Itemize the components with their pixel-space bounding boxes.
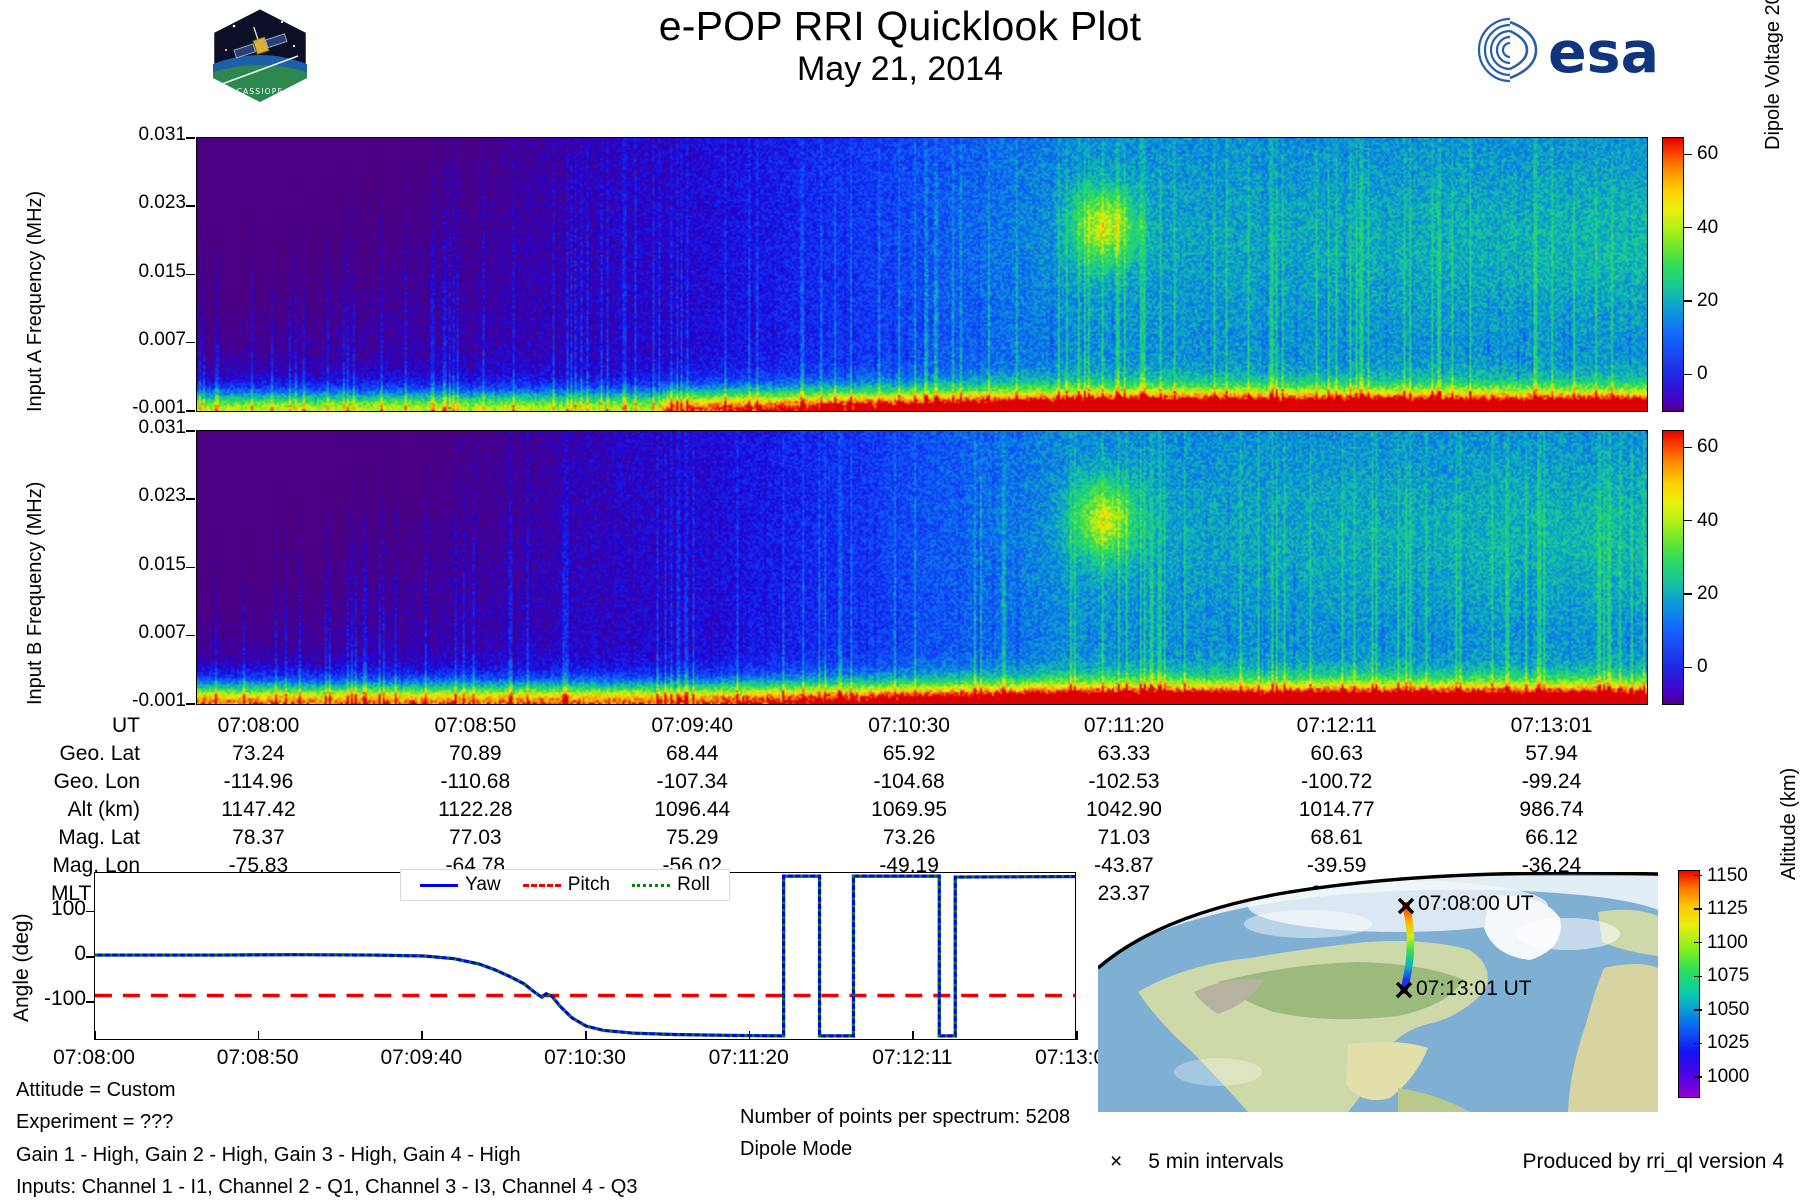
ephemeris-cell: 68.61: [1230, 824, 1443, 852]
y-tick-label: 0.015: [114, 261, 186, 283]
info-block-mid: Number of points per spectrum: 5208 Dipo…: [740, 1101, 1070, 1166]
colorbar-tick-label: 0: [1692, 656, 1708, 678]
ephemeris-cell: 1147.42: [150, 796, 367, 824]
attitude-x-tick-mark: [421, 1031, 423, 1040]
gain-info: Gain 1 - High, Gain 2 - High, Gain 3 - H…: [16, 1139, 637, 1171]
altitude-tick-label: 1150: [1702, 865, 1748, 887]
y-tick-mark: [186, 498, 195, 500]
ephemeris-cell: 1069.95: [801, 796, 1018, 824]
colorbar-tick-label: 60: [1692, 436, 1718, 458]
y-tick-mark: [186, 430, 195, 432]
ephemeris-cell: 07:11:20: [1018, 712, 1231, 740]
ephemeris-row: Geo. Lat73.2470.8968.4465.9263.3360.6357…: [0, 740, 1660, 768]
attitude-y-tick-label: -100: [20, 987, 86, 1011]
y-tick-mark: [186, 410, 195, 412]
interval-legend-label: 5 min intervals: [1148, 1150, 1283, 1174]
ephemeris-cell: 07:13:01: [1443, 712, 1660, 740]
y-tick-mark: [186, 342, 195, 344]
y-tick-label: 0.023: [114, 192, 186, 214]
attitude-y-tick-mark: [86, 911, 95, 913]
ephemeris-cell: -99.24: [1443, 768, 1660, 796]
input-a-spectrogram-image: [197, 138, 1647, 411]
altitude-colorbar: [1678, 870, 1700, 1098]
colorbar-tick-label: 20: [1692, 583, 1718, 605]
colorbar-tick-label: 60: [1692, 143, 1718, 165]
yaw-line-icon: [420, 884, 458, 887]
ephemeris-row-label: Geo. Lat: [0, 740, 150, 768]
panel-a-ylabel: Input A Frequency (MHz): [24, 191, 47, 412]
y-tick-label: 0.031: [114, 124, 186, 146]
ephemeris-cell: 66.12: [1443, 824, 1660, 852]
legend-item-roll: Roll: [632, 874, 710, 896]
altitude-tick-label: 1100: [1702, 932, 1748, 954]
altitude-tick-label: 1000: [1702, 1066, 1749, 1088]
ephemeris-cell: -102.53: [1018, 768, 1231, 796]
colorbar-title-plain: Dipole Voltage 20: [1762, 0, 1784, 150]
y-tick-mark: [186, 703, 195, 705]
y-tick-mark: [186, 274, 195, 276]
ephemeris-cell: 60.63: [1230, 740, 1443, 768]
y-tick-label: 0.007: [114, 622, 186, 644]
attitude-x-tick-mark: [912, 1031, 914, 1040]
ephemeris-cell: 68.44: [584, 740, 801, 768]
attitude-x-tick-label: 07:12:11: [842, 1046, 982, 1070]
map-globe: [1098, 872, 1658, 1112]
map-end-time-label: 07:13:01 UT: [1416, 977, 1532, 1001]
interval-marker-icon: ×: [1110, 1150, 1122, 1174]
roll-line-icon: [632, 884, 670, 887]
attitude-x-tick-mark: [258, 1031, 260, 1040]
panel-b-ylabel: Input B Frequency (MHz): [24, 482, 47, 705]
y-tick-label: -0.001: [114, 397, 186, 419]
attitude-x-tick-mark: [749, 1031, 751, 1040]
colorbar-tick-label: 40: [1692, 510, 1718, 532]
attitude-x-tick-label: 07:10:30: [515, 1046, 655, 1070]
y-tick-mark: [186, 635, 195, 637]
panel-b-yaxis: 0.0310.0230.0150.007-0.001: [68, 430, 186, 705]
ephemeris-cell: 07:08:50: [367, 712, 584, 740]
ephemeris-cell: 57.94: [1443, 740, 1660, 768]
colorbar-tick-label: 40: [1692, 217, 1718, 239]
input-a-spectrogram: [196, 137, 1648, 412]
inputs-info: Inputs: Channel 1 - I1, Channel 2 - Q1, …: [16, 1171, 637, 1203]
legend-label-yaw: Yaw: [465, 874, 501, 896]
ephemeris-row: Geo. Lon-114.96-110.68-107.34-104.68-102…: [0, 768, 1660, 796]
ephemeris-cell: -104.68: [801, 768, 1018, 796]
map-surface: [1098, 872, 1658, 1112]
attitude-y-tick-label: 0: [20, 942, 86, 966]
attitude-x-tick-label: 07:08:00: [24, 1046, 164, 1070]
ground-track-map: 07:08:00 UT 07:13:01 UT: [1098, 872, 1658, 1112]
ephemeris-cell: -107.34: [584, 768, 801, 796]
ephemeris-cell: 07:12:11: [1230, 712, 1443, 740]
colorbar-tick-label: 20: [1692, 290, 1718, 312]
y-tick-label: 0.007: [114, 329, 186, 351]
ephemeris-row: Alt (km)1147.421122.281096.441069.951042…: [0, 796, 1660, 824]
ephemeris-cell: 70.89: [367, 740, 584, 768]
ephemeris-cell: 986.74: [1443, 796, 1660, 824]
ephemeris-row: Mag. Lat78.3777.0375.2973.2671.0368.6166…: [0, 824, 1660, 852]
map-legend: × 5 min intervals: [1110, 1150, 1284, 1174]
produced-by: Produced by rri_ql version 4: [1523, 1150, 1784, 1174]
panel-a-yaxis: 0.0310.0230.0150.007-0.001: [68, 137, 186, 412]
attitude-x-tick-label: 07:08:50: [188, 1046, 328, 1070]
info-block-left: Attitude = Custom Experiment = ??? Gain …: [16, 1074, 637, 1204]
ephemeris-cell: 1096.44: [584, 796, 801, 824]
title-block: e-POP RRI Quicklook Plot May 21, 2014: [0, 4, 1800, 91]
input-b-spectrogram-image: [197, 431, 1647, 704]
ephemeris-row-label: Mag. Lat: [0, 824, 150, 852]
page-subtitle-date: May 21, 2014: [0, 48, 1800, 91]
ephemeris-cell: 1122.28: [367, 796, 584, 824]
y-tick-label: 0.015: [114, 554, 186, 576]
altitude-tick-label: 1050: [1702, 999, 1749, 1021]
attitude-x-tick-mark: [585, 1031, 587, 1040]
ephemeris-cell: 07:09:40: [584, 712, 801, 740]
ephemeris-cell: -100.72: [1230, 768, 1443, 796]
ephemeris-cell: 71.03: [1018, 824, 1231, 852]
y-tick-mark: [186, 205, 195, 207]
ephemeris-cell: 1014.77: [1230, 796, 1443, 824]
ephemeris-row-label: Geo. Lon: [0, 768, 150, 796]
attitude-legend: Yaw Pitch Roll: [400, 869, 730, 901]
legend-item-yaw: Yaw: [420, 874, 501, 896]
spectrogram-a-colorbar: [1662, 137, 1684, 412]
attitude-x-tick-label: 07:11:20: [679, 1046, 819, 1070]
ephemeris-cell: 65.92: [801, 740, 1018, 768]
ephemeris-cell: -110.68: [367, 768, 584, 796]
attitude-x-tick-mark: [1076, 1031, 1078, 1040]
ephemeris-cell: 77.03: [367, 824, 584, 852]
colorbar-tick-label: 0: [1692, 363, 1708, 385]
y-tick-mark: [186, 567, 195, 569]
attitude-info: Attitude = Custom: [16, 1074, 637, 1106]
altitude-tick-label: 1075: [1702, 965, 1749, 987]
page-header: CASSIOPE esa e-POP RRI Quicklook Plot Ma…: [0, 0, 1800, 110]
altitude-colorbar-gradient: [1679, 871, 1699, 1097]
ephemeris-cell: 73.24: [150, 740, 367, 768]
legend-label-pitch: Pitch: [568, 874, 610, 896]
y-tick-label: 0.023: [114, 485, 186, 507]
ephemeris-row: UT07:08:0007:08:5007:09:4007:10:3007:11:…: [0, 712, 1660, 740]
attitude-x-tick-mark: [94, 1031, 96, 1040]
altitude-tick-label: 1025: [1702, 1032, 1749, 1054]
colorbar-a-gradient: [1663, 138, 1683, 411]
attitude-x-tick-label: 07:09:40: [351, 1046, 491, 1070]
attitude-y-tick-mark: [86, 1001, 95, 1003]
altitude-colorbar-title: Altitude (km): [1778, 768, 1800, 880]
altitude-tick-label: 1125: [1702, 898, 1748, 920]
map-start-time-label: 07:08:00 UT: [1418, 892, 1534, 916]
attitude-y-tick-label: 100: [20, 897, 86, 921]
ephemeris-cell: 1042.90: [1018, 796, 1231, 824]
y-tick-mark: [186, 137, 195, 139]
experiment-info: Experiment = ???: [16, 1106, 637, 1138]
ephemeris-row-label: UT: [0, 712, 150, 740]
points-per-spectrum: Number of points per spectrum: 5208: [740, 1101, 1070, 1133]
pitch-line-icon: [523, 884, 561, 887]
y-tick-label: 0.031: [114, 417, 186, 439]
ephemeris-cell: -114.96: [150, 768, 367, 796]
input-b-spectrogram: [196, 430, 1648, 705]
page-title: e-POP RRI Quicklook Plot: [0, 4, 1800, 48]
ephemeris-cell: 78.37: [150, 824, 367, 852]
legend-item-pitch: Pitch: [523, 874, 610, 896]
colorbar-title: Dipole Voltage 20log(μVBs): [1762, 0, 1787, 150]
dipole-mode: Dipole Mode: [740, 1133, 1070, 1165]
colorbar-b-gradient: [1663, 431, 1683, 704]
spectrogram-b-colorbar: [1662, 430, 1684, 705]
y-tick-label: -0.001: [114, 690, 186, 712]
ephemeris-cell: 63.33: [1018, 740, 1231, 768]
ephemeris-cell: 75.29: [584, 824, 801, 852]
ephemeris-cell: 07:08:00: [150, 712, 367, 740]
ephemeris-cell: 07:10:30: [801, 712, 1018, 740]
legend-label-roll: Roll: [677, 874, 710, 896]
ephemeris-cell: 73.26: [801, 824, 1018, 852]
ephemeris-row-label: Alt (km): [0, 796, 150, 824]
attitude-y-tick-mark: [86, 956, 95, 958]
